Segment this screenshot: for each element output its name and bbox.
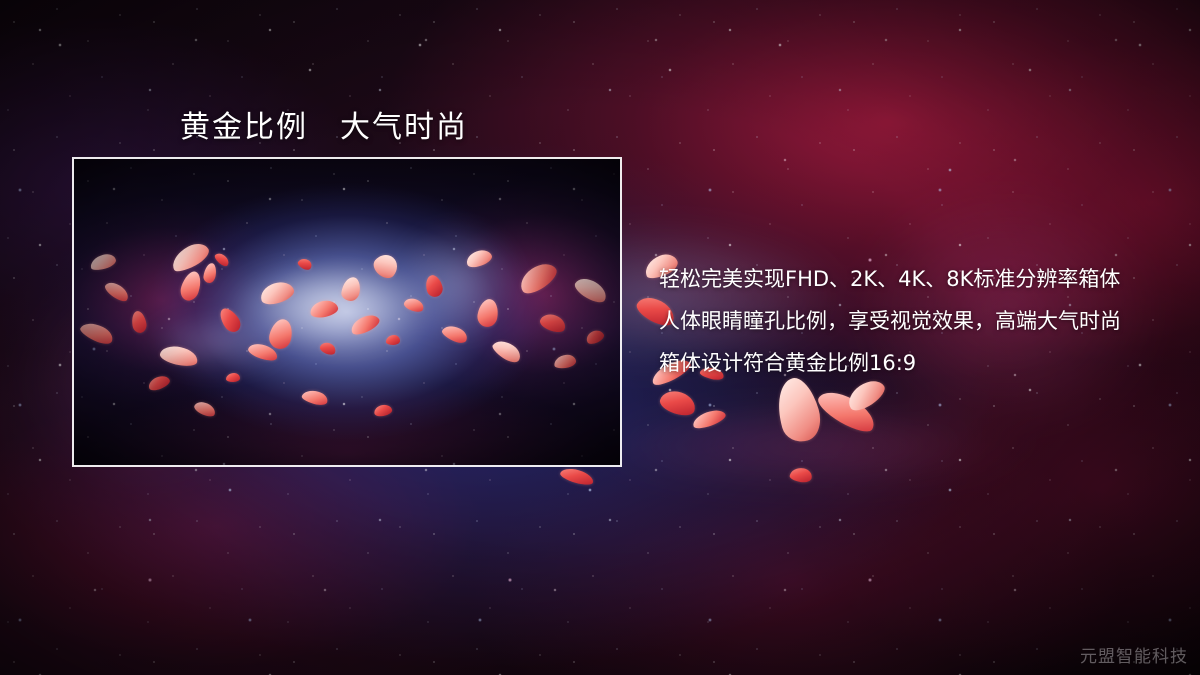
body-line-3: 箱体设计符合黄金比例16:9 [659, 342, 1179, 384]
body-line-1: 轻松完美实现FHD、2K、4K、8K标准分辨率箱体 [659, 258, 1179, 300]
slide-body-text: 轻松完美实现FHD、2K、4K、8K标准分辨率箱体 人体眼睛瞳孔比例，享受视觉效… [659, 258, 1179, 384]
panel-vignette [74, 159, 620, 465]
slide-title: 黄金比例 大气时尚 [180, 102, 468, 146]
presentation-slide: 黄金比例 大气时尚 轻松完美实现FHD、2K、4K、8K标准分辨率箱体 人体眼睛… [0, 0, 1200, 675]
display-preview-frame [72, 157, 622, 467]
body-line-2: 人体眼睛瞳孔比例，享受视觉效果，高端大气时尚 [659, 300, 1179, 342]
company-watermark: 元盟智能科技 [1080, 642, 1188, 667]
